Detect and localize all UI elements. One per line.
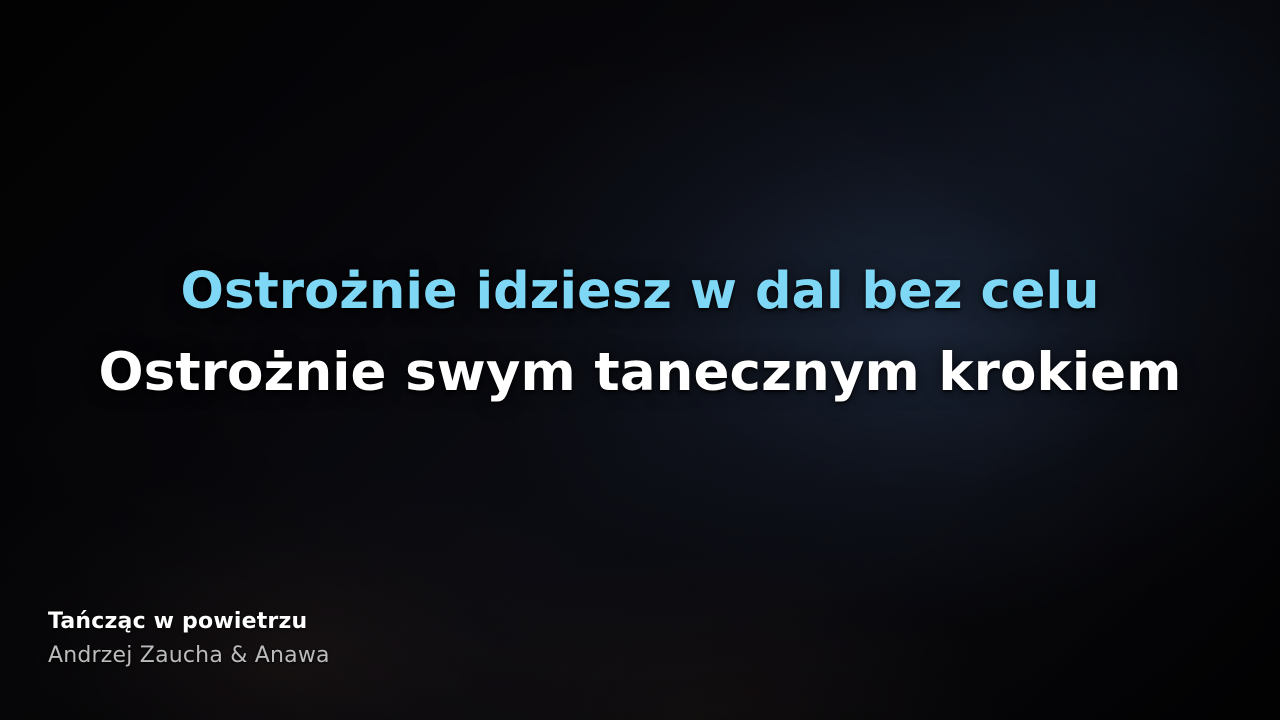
lyric-line-current: Ostrożnie idziesz w dal bez celu xyxy=(0,262,1280,322)
lyrics-screen: Ostrożnie idziesz w dal bez celu Ostrożn… xyxy=(0,0,1280,720)
track-title: Tańcząc w powietrzu xyxy=(48,607,330,637)
track-info: Tańcząc w powietrzu Andrzej Zaucha & Ana… xyxy=(48,607,330,672)
lyrics-container: Ostrożnie idziesz w dal bez celu Ostrożn… xyxy=(0,262,1280,405)
lyric-line-next: Ostrożnie swym tanecznym krokiem xyxy=(0,342,1280,405)
track-artist: Andrzej Zaucha & Anawa xyxy=(48,640,330,672)
